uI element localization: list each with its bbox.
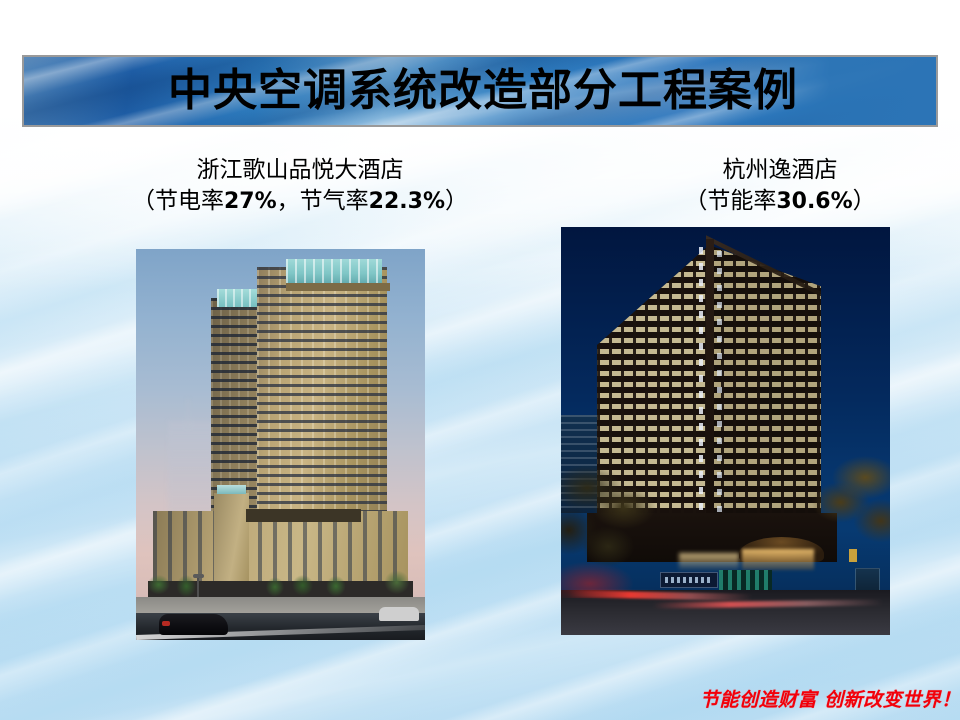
photo-right-sign-post	[849, 549, 858, 562]
photo-right-light-stripe-b	[717, 251, 721, 520]
title-banner: 中央空调系统改造部分工程案例	[22, 55, 938, 127]
case-right-metric-energy: 30.6%	[776, 189, 852, 214]
page-title: 中央空调系统改造部分工程案例	[24, 69, 936, 113]
case-left-metrics: （节电率27%，节气率22.3%）	[60, 186, 540, 217]
case-left-metrics-suffix: ）	[445, 188, 468, 214]
photo-left-black-car	[159, 614, 228, 635]
photo-right-entry-glow	[679, 553, 738, 569]
slide-canvas: 中央空调系统改造部分工程案例 浙江歌山品悦大酒店 （节电率27%，节气率22.3…	[0, 0, 960, 720]
photo-left-street-trees	[142, 562, 419, 601]
photo-left-white-car	[379, 607, 419, 621]
photo-left-glass-crown	[286, 259, 381, 284]
case-caption-left: 浙江歌山品悦大酒店 （节电率27%，节气率22.3%）	[60, 155, 540, 217]
case-right-metrics-suffix: ）	[853, 188, 876, 214]
case-left-metrics-prefix: （节电率	[132, 188, 224, 214]
photo-right-light-stripe-a	[699, 247, 703, 516]
case-photo-right	[561, 227, 890, 635]
photo-left-cornice	[286, 283, 390, 292]
case-left-metrics-middle: ，节气率	[277, 188, 369, 214]
photo-right-tree-right	[798, 431, 890, 586]
photo-right-building-corner	[706, 239, 713, 533]
photo-right-hedge	[719, 570, 772, 592]
footer-slogan: 节能创造财富 创新改变世界！	[700, 688, 955, 712]
case-left-metric-gas: 22.3%	[369, 189, 445, 214]
photo-left-dark-band	[246, 509, 362, 522]
case-photo-left	[136, 249, 425, 640]
case-left-metric-electricity: 27%	[224, 189, 277, 214]
case-left-name: 浙江歌山品悦大酒店	[60, 155, 540, 186]
case-caption-right: 杭州逸酒店 （节能率30.6%）	[590, 155, 960, 217]
case-right-metrics-prefix: （节能率	[684, 188, 776, 214]
case-right-metrics: （节能率30.6%）	[590, 186, 960, 217]
case-right-name: 杭州逸酒店	[590, 155, 960, 186]
